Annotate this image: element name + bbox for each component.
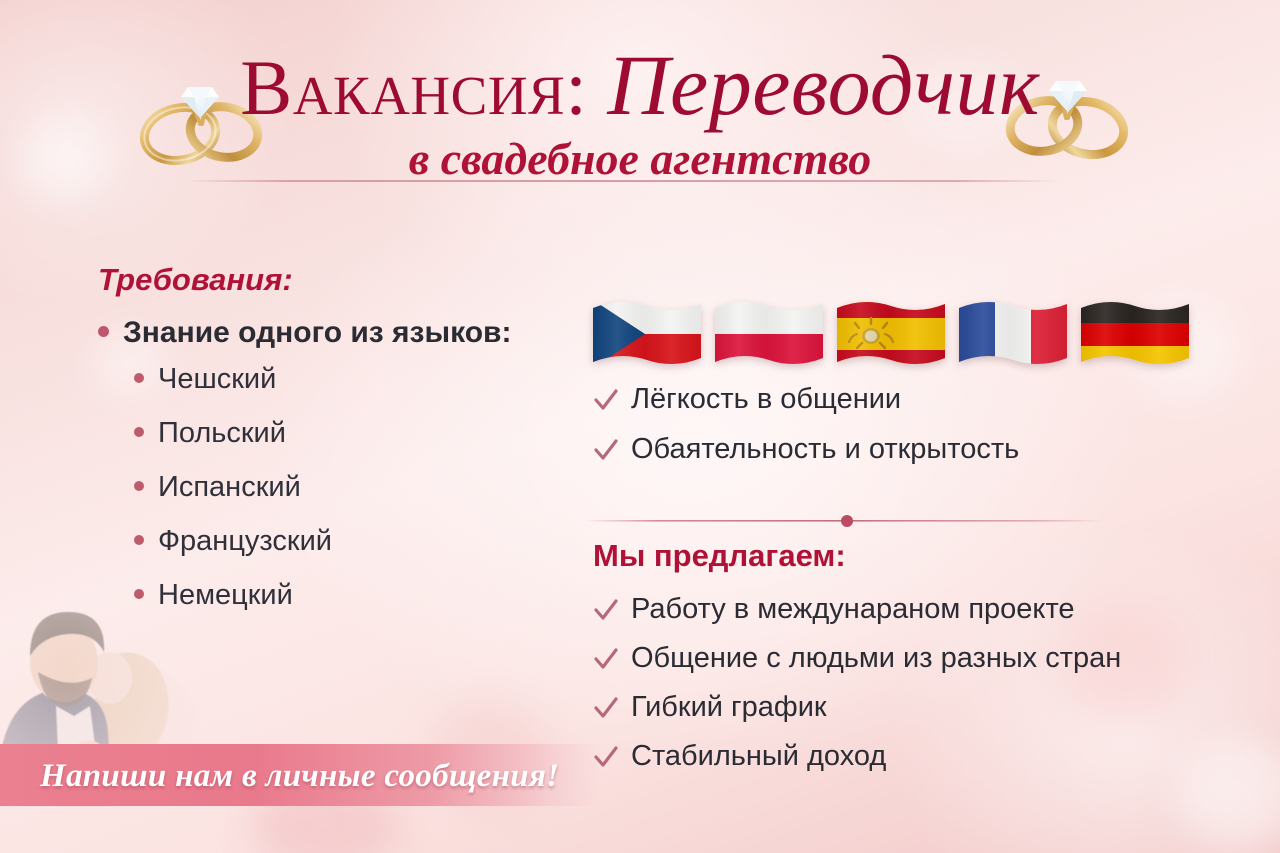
flag-row (585, 282, 1245, 368)
list-item: Испанский (134, 469, 568, 505)
list-item: Французский (134, 523, 568, 559)
list-item: Стабильный доход (593, 739, 1253, 773)
list-item: Общение с людьми из разных стран (593, 641, 1253, 675)
title-line1-vacancy: Вакансия: (240, 44, 587, 131)
qualities-list: Лёгкость в общении Обаятельность и откры… (585, 382, 1245, 466)
offer-label-flexible-schedule: Гибкий график (631, 690, 827, 724)
poster-canvas: Вакансия: Переводчик в свадебное агентст… (0, 0, 1280, 853)
france-flag (959, 300, 1067, 368)
czech-republic-flag (593, 300, 701, 368)
check-icon (593, 695, 619, 721)
language-label-czech: Чешский (158, 361, 276, 397)
list-item: Чешский (134, 361, 568, 397)
language-label-spanish: Испанский (158, 469, 301, 505)
bullet-dot-icon (134, 373, 144, 383)
list-item: Обаятельность и открытость (593, 432, 1245, 466)
bullet-dot-icon (98, 326, 109, 337)
bullet-dot-icon (134, 589, 144, 599)
requirements-section: Требования: Знание одного из языков: Чеш… (98, 262, 568, 631)
bullet-dot-icon (134, 481, 144, 491)
cta-banner-label[interactable]: Напиши нам в личные сообщения! (40, 748, 580, 804)
requirements-heading: Требования: (98, 262, 568, 298)
check-icon (593, 597, 619, 623)
list-item: Гибкий график (593, 690, 1253, 724)
divider-line-with-dot (585, 514, 1105, 528)
offer-label-international-project: Работу в междунараном проекте (631, 592, 1075, 626)
page-title: Вакансия: Переводчик (0, 44, 1280, 129)
spain-flag (837, 300, 945, 368)
language-label-polish: Польский (158, 415, 286, 451)
language-label-french: Французский (158, 523, 332, 559)
requirements-main-label: Знание одного из языков: (123, 314, 511, 352)
title-line1-role: Переводчик (607, 37, 1039, 133)
quality-label-communication: Лёгкость в общении (631, 382, 901, 416)
offer-label-stable-income: Стабильный доход (631, 739, 886, 773)
poland-flag (715, 300, 823, 368)
offer-heading: Мы предлагаем: (593, 538, 846, 574)
offer-section: Лёгкость в общении Обаятельность и откры… (585, 282, 1245, 482)
divider-line-top (185, 180, 1060, 182)
title-block: Вакансия: Переводчик в свадебное агентст… (0, 44, 1280, 185)
page-subtitle: в свадебное агентство (0, 133, 1280, 185)
check-icon (593, 387, 619, 413)
check-icon (593, 437, 619, 463)
list-item: Работу в междунараном проекте (593, 592, 1253, 626)
list-item: Немецкий (134, 577, 568, 613)
bullet-dot-icon (134, 535, 144, 545)
language-list: Чешский Польский Испанский Французский Н… (98, 361, 568, 613)
bullet-dot-icon (134, 427, 144, 437)
requirements-main-item: Знание одного из языков: (98, 314, 568, 352)
offer-list: Работу в междунараном проекте Общение с … (585, 592, 1253, 788)
list-item: Лёгкость в общении (593, 382, 1245, 416)
offer-label-international-people: Общение с людьми из разных стран (631, 641, 1121, 675)
list-item: Польский (134, 415, 568, 451)
quality-label-openness: Обаятельность и открытость (631, 432, 1019, 466)
check-icon (593, 646, 619, 672)
language-label-german: Немецкий (158, 577, 293, 613)
germany-flag (1081, 300, 1189, 368)
